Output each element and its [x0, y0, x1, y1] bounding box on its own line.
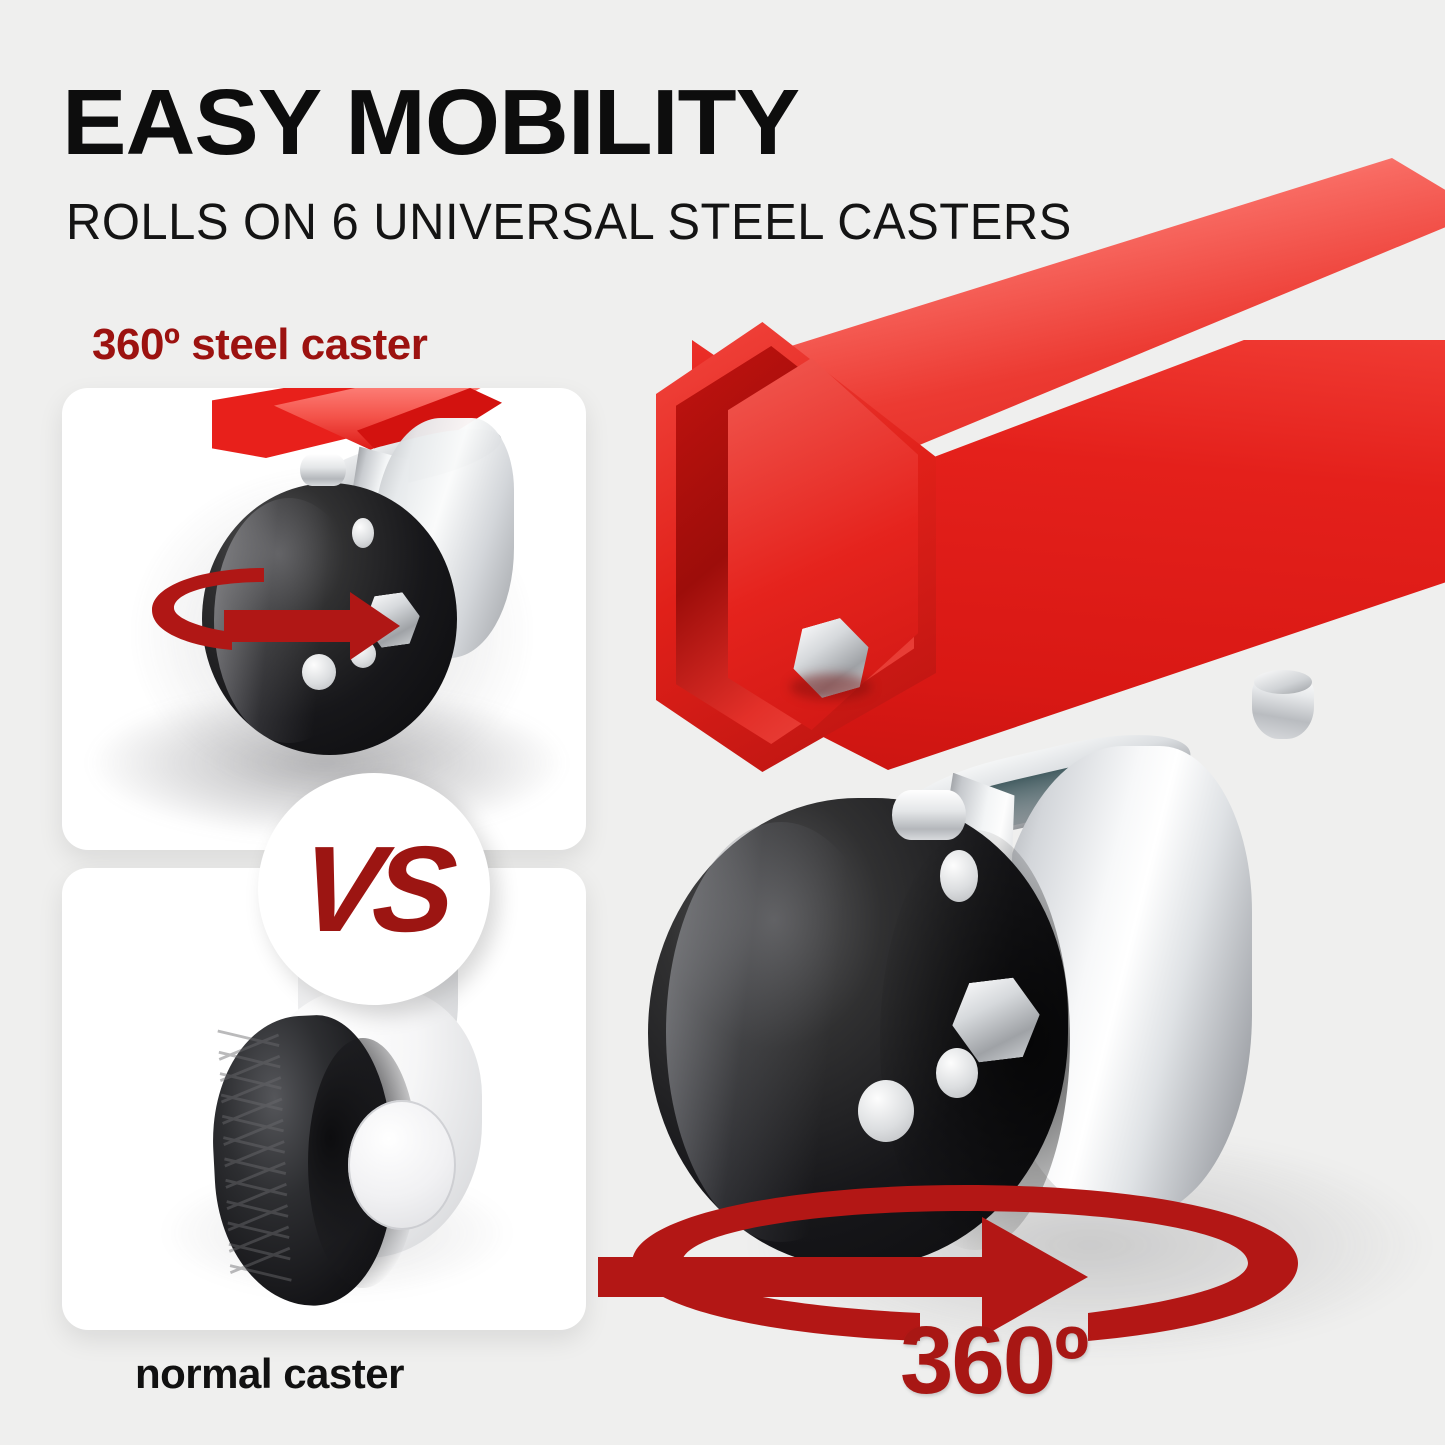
main-product-photo	[600, 150, 1445, 1445]
plastic-hubcap	[348, 1100, 456, 1230]
main-swivel-rivet	[892, 790, 966, 840]
normal-caster-label: normal caster	[135, 1350, 404, 1398]
rotation-callout-label: 360º	[900, 1306, 1087, 1416]
main-wheel-hub-hole	[936, 1048, 978, 1098]
wheel-hub-hole	[352, 518, 374, 548]
swivel-arrow-icon	[114, 548, 414, 688]
tube-chrome-stud-top	[1254, 670, 1312, 694]
steel-caster-label: 360º steel caster	[92, 320, 427, 370]
product-infographic: EASY MOBILITY ROLLS ON 6 UNIVERSAL STEEL…	[0, 0, 1445, 1445]
main-wheel-hub-hole	[940, 850, 978, 902]
swivel-rivet	[300, 454, 346, 486]
tube-hex-nut-shadow	[790, 674, 872, 700]
vs-label: VS	[246, 773, 502, 1005]
main-wheel-hub-hole	[858, 1080, 914, 1142]
vs-badge: VS	[258, 773, 490, 1005]
